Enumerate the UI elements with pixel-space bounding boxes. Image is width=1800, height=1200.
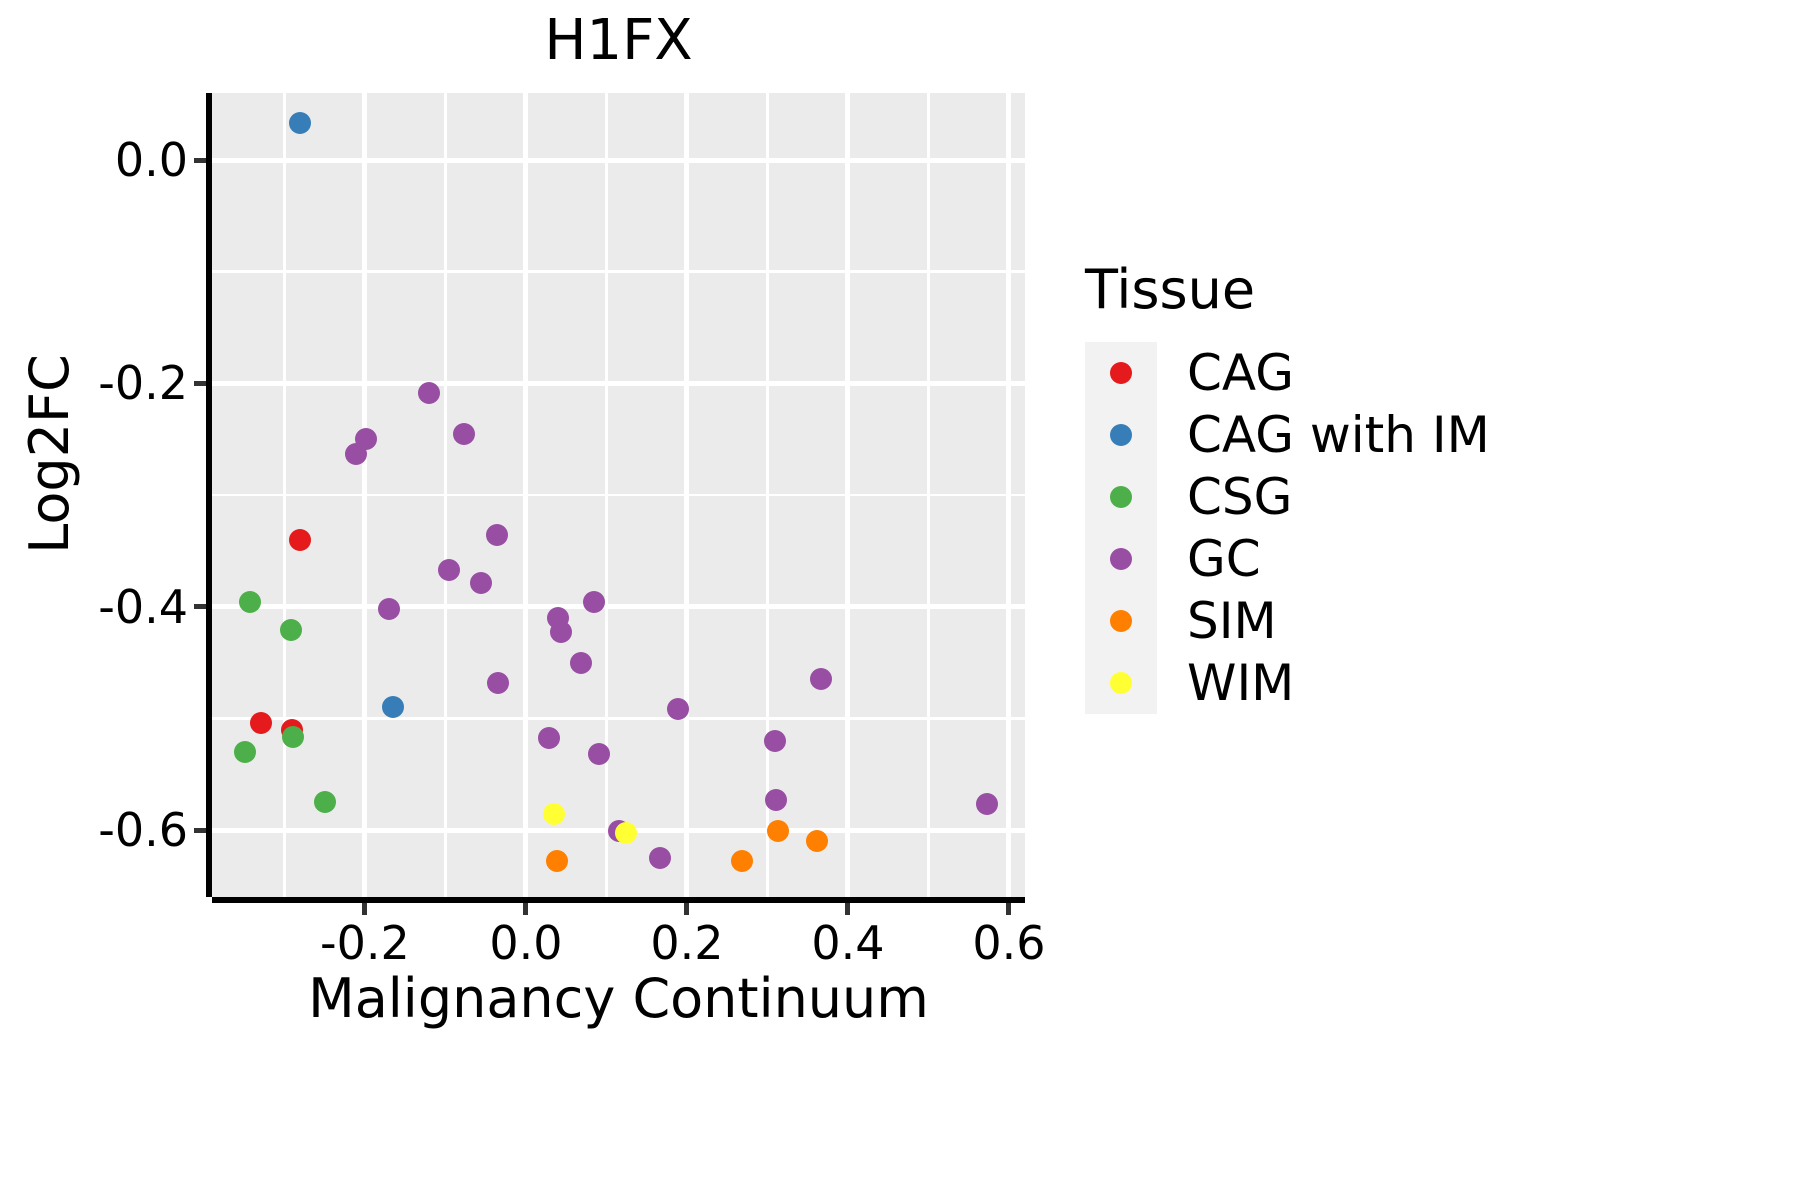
gridline-vertical-major [684, 93, 689, 897]
gridline-horizontal-minor [212, 494, 1025, 497]
y-tick-label: 0.0 [115, 137, 188, 183]
data-point-cag[interactable] [289, 529, 311, 551]
legend-key-swatch [1085, 652, 1157, 714]
y-tick-label: -0.6 [98, 807, 188, 853]
data-point-gc[interactable] [345, 443, 367, 465]
legend-dot-icon [1110, 486, 1132, 508]
x-tick-label: -0.2 [320, 920, 410, 966]
y-tick-mark [194, 604, 206, 609]
legend-item-label: CAG with IM [1157, 407, 1490, 463]
x-tick-mark [1006, 903, 1011, 915]
data-point-gc[interactable] [764, 730, 786, 752]
data-point-gc[interactable] [583, 591, 605, 613]
x-axis-line [212, 897, 1025, 903]
data-point-csg[interactable] [239, 591, 261, 613]
x-tick-mark [845, 903, 850, 915]
data-point-gc[interactable] [438, 559, 460, 581]
data-point-sim[interactable] [731, 850, 753, 872]
legend-item-label: WIM [1157, 655, 1294, 711]
y-axis-title: Log2FC [20, 244, 80, 664]
data-point-gc[interactable] [487, 672, 509, 694]
gridline-vertical-major [362, 93, 367, 897]
data-point-gc[interactable] [976, 793, 998, 815]
data-point-wim[interactable] [615, 822, 637, 844]
data-point-cag-with-im[interactable] [289, 112, 311, 134]
legend-items: CAGCAG with IMCSGGCSIMWIM [1085, 342, 1490, 714]
gridline-horizontal-major [212, 158, 1025, 163]
data-point-sim[interactable] [806, 830, 828, 852]
y-tick-label: -0.4 [98, 584, 188, 630]
data-point-gc[interactable] [470, 572, 492, 594]
legend-dot-icon [1110, 548, 1132, 570]
data-point-gc[interactable] [570, 652, 592, 674]
data-point-gc[interactable] [765, 789, 787, 811]
x-tick-label: 0.4 [811, 920, 884, 966]
legend-item-wim[interactable]: WIM [1085, 652, 1490, 714]
gridline-horizontal-major [212, 604, 1025, 609]
data-point-gc[interactable] [810, 668, 832, 690]
data-point-gc[interactable] [486, 524, 508, 546]
data-point-csg[interactable] [282, 726, 304, 748]
legend-dot-icon [1110, 424, 1132, 446]
legend-key-swatch [1085, 342, 1157, 404]
data-point-csg[interactable] [314, 791, 336, 813]
legend: Tissue CAGCAG with IMCSGGCSIMWIM [1085, 258, 1490, 714]
legend-item-label: CSG [1157, 469, 1292, 525]
y-tick-label: -0.2 [98, 360, 188, 406]
legend-dot-icon [1110, 362, 1132, 384]
gridline-horizontal-major [212, 381, 1025, 386]
y-axis-line [206, 93, 212, 897]
data-point-cag[interactable] [250, 712, 272, 734]
data-point-gc[interactable] [550, 621, 572, 643]
legend-key-swatch [1085, 466, 1157, 528]
x-tick-label: 0.2 [650, 920, 723, 966]
legend-item-csg[interactable]: CSG [1085, 466, 1490, 528]
legend-dot-icon [1110, 672, 1132, 694]
legend-item-sim[interactable]: SIM [1085, 590, 1490, 652]
legend-key-swatch [1085, 590, 1157, 652]
y-tick-mark [194, 381, 206, 386]
data-point-gc[interactable] [538, 727, 560, 749]
legend-item-label: GC [1157, 531, 1261, 587]
data-point-sim[interactable] [767, 820, 789, 842]
data-point-gc[interactable] [649, 847, 671, 869]
data-point-csg[interactable] [234, 741, 256, 763]
x-tick-label: 0.6 [972, 920, 1045, 966]
data-point-csg[interactable] [280, 619, 302, 641]
data-point-gc[interactable] [453, 423, 475, 445]
data-point-cag-with-im[interactable] [382, 696, 404, 718]
gridline-horizontal-minor [212, 270, 1025, 273]
x-tick-mark [684, 903, 689, 915]
plot-panel [212, 93, 1025, 897]
y-tick-mark [194, 158, 206, 163]
data-point-wim[interactable] [543, 803, 565, 825]
gridline-vertical-major [845, 93, 850, 897]
scatter-plot-figure: H1FX 0.0-0.2-0.4-0.6 -0.20.00.20.40.6 Ma… [0, 0, 1800, 1200]
x-tick-mark [523, 903, 528, 915]
y-tick-mark [194, 828, 206, 833]
x-axis-title: Malignancy Continuum [212, 966, 1025, 1032]
legend-dot-icon [1110, 610, 1132, 632]
legend-item-cag[interactable]: CAG [1085, 342, 1490, 404]
legend-item-label: SIM [1157, 593, 1277, 649]
legend-key-swatch [1085, 404, 1157, 466]
legend-item-label: CAG [1157, 345, 1294, 401]
x-tick-mark [362, 903, 367, 915]
data-point-gc[interactable] [378, 598, 400, 620]
x-tick-label: 0.0 [489, 920, 562, 966]
data-point-sim[interactable] [546, 850, 568, 872]
data-point-gc[interactable] [418, 382, 440, 404]
legend-title: Tissue [1085, 258, 1490, 322]
page-title: H1FX [212, 6, 1025, 76]
legend-item-gc[interactable]: GC [1085, 528, 1490, 590]
gridline-vertical-major [523, 93, 528, 897]
legend-key-swatch [1085, 528, 1157, 590]
gridline-vertical-major [1006, 93, 1011, 897]
gridline-horizontal-minor [212, 717, 1025, 720]
legend-item-cag-with-im[interactable]: CAG with IM [1085, 404, 1490, 466]
